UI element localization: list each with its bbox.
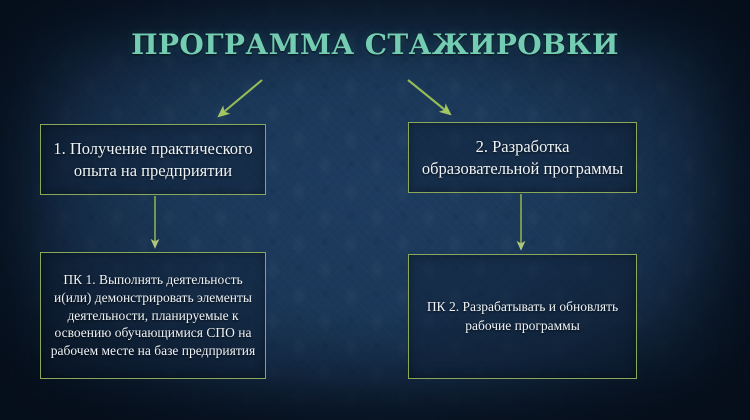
goal-box-1-label: 1. Получение практического опыта на пред…	[41, 138, 265, 181]
competency-box-pk-1-label: ПК 1. Выполнять деятельность и(или) демо…	[41, 271, 265, 361]
competency-box-pk-2: ПК 2. Разрабатывать и обновлять рабочие …	[408, 254, 637, 379]
goal-box-1: 1. Получение практического опыта на пред…	[40, 124, 266, 195]
page-title: ПРОГРАММА СТАЖИРОВКИ	[0, 28, 750, 61]
goal-box-2-label: 2. Разработка образовательной программы	[409, 136, 636, 179]
competency-box-pk-2-label: ПК 2. Разрабатывать и обновлять рабочие …	[409, 298, 636, 335]
competency-box-pk-1: ПК 1. Выполнять деятельность и(или) демо…	[40, 252, 266, 379]
slide-canvas: ПРОГРАММА СТАЖИРОВКИ 1. Получение практи…	[0, 0, 750, 420]
goal-box-2: 2. Разработка образовательной программы	[408, 122, 637, 193]
